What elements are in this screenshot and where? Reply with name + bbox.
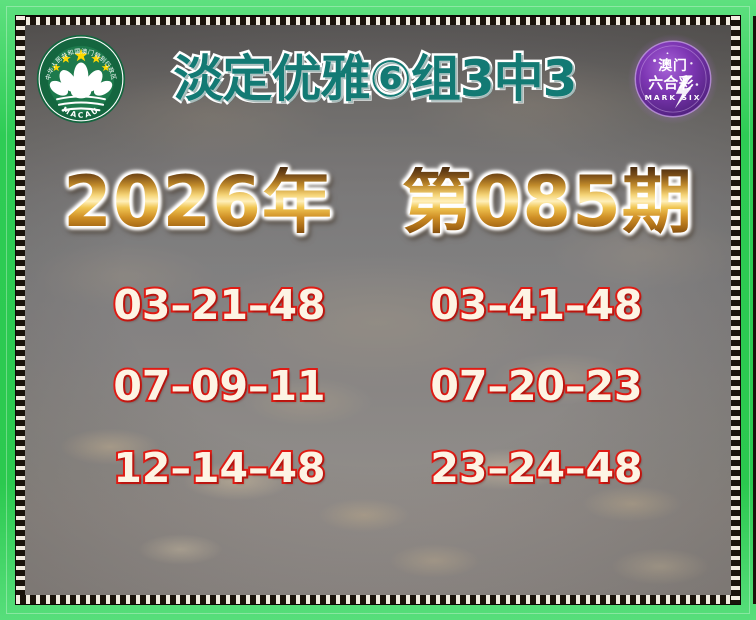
macau-emblem-icon: 中华人民共和国澳门特别行政区 MACAU [35, 33, 127, 125]
poster-content: 中华人民共和国澳门特别行政区 MACAU 淡定优雅⑥组3中3 [25, 25, 731, 595]
mark-six-line3: MARK SIX [645, 93, 702, 102]
page-title: 淡定优雅⑥组3中3 [174, 54, 577, 104]
number-set: 07–20–23 [430, 366, 642, 407]
number-set: 12–14–48 [113, 448, 325, 489]
issue-number-label: 第085期 [402, 161, 693, 243]
poster-stage: 中华人民共和国澳门特别行政区 MACAU 淡定优雅⑥组3中3 [25, 25, 731, 595]
number-set: 23–24–48 [430, 448, 642, 489]
number-set: 07–09–11 [113, 366, 325, 407]
film-strip-border: 中华人民共和国澳门特别行政区 MACAU 淡定优雅⑥组3中3 [16, 16, 740, 604]
year-label: 2026年 [63, 161, 333, 243]
lottery-poster: 中华人民共和国澳门特别行政区 MACAU 淡定优雅⑥组3中3 [0, 0, 756, 620]
poster-header: 中华人民共和国澳门特别行政区 MACAU 淡定优雅⑥组3中3 [25, 31, 731, 127]
issue-text: 2026年 第085期 [63, 167, 693, 237]
main-title-wrap: 淡定优雅⑥组3中3 [127, 54, 627, 104]
issue-row: 2026年 第085期 [25, 160, 731, 244]
number-grid: 03–21–48 03–41–48 07–09–11 07–20–23 12–1… [61, 265, 695, 509]
mark-six-line1: 澳门 [658, 57, 687, 74]
mark-six-badge-icon: 澳门 六合彩 MARK SIX [627, 33, 719, 125]
number-set: 03–41–48 [430, 285, 642, 326]
number-set: 03–21–48 [113, 285, 325, 326]
mark-six-line2: 六合彩 [648, 74, 694, 92]
film-strip-right-edge [731, 16, 740, 604]
